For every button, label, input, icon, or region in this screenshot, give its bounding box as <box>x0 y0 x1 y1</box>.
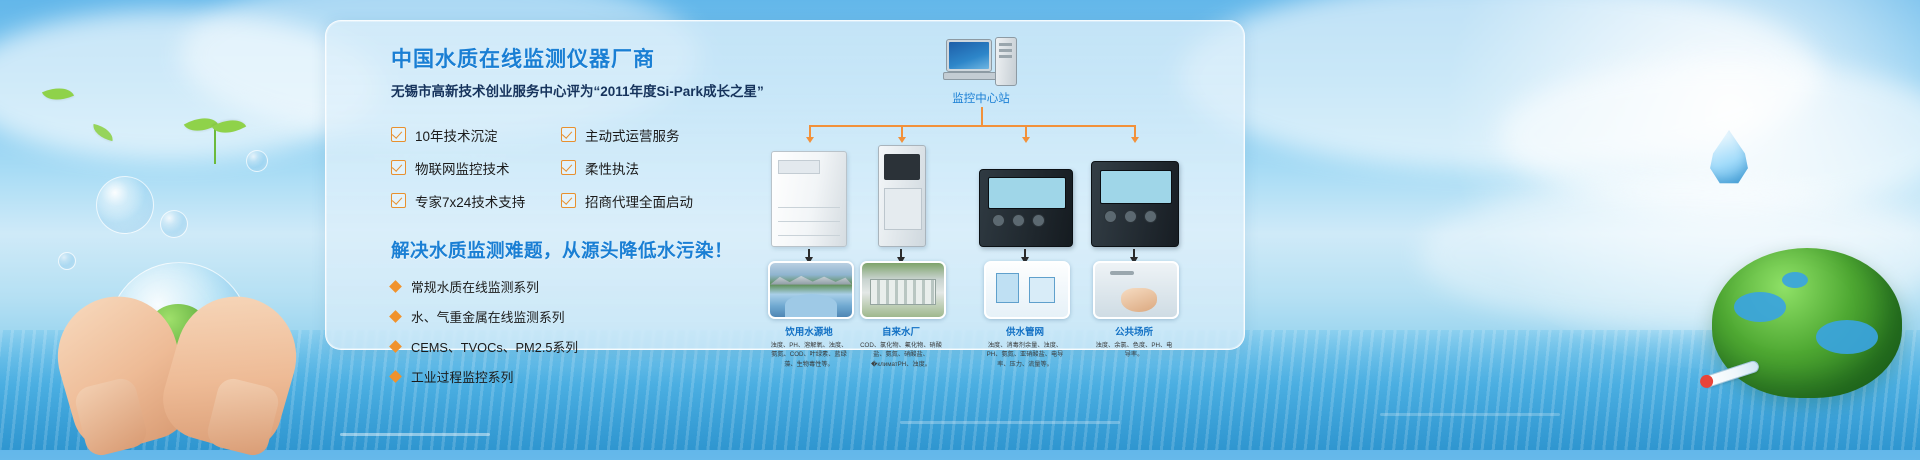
scene-params: COD、氯化物、氟化物、硝酸盐、氨氮、硝酸盐、�климатPH、浊度。 <box>860 341 942 369</box>
scene-title: 自来水厂 <box>860 324 942 338</box>
monitoring-center-computer-icon <box>946 39 1018 85</box>
page-subtitle: 无锡市高新技术创业服务中心评为“2011年度Si-Park成长之星” <box>391 83 721 101</box>
device-controller-wide <box>979 169 1073 247</box>
product-line-label: 常规水质在线监测系列 <box>411 277 539 296</box>
feature-label: 10年技术沉淀 <box>415 125 498 145</box>
diamond-bullet-icon <box>389 370 402 383</box>
device-controller-square <box>1091 161 1179 247</box>
leaf-icon <box>42 81 74 107</box>
scene-card[interactable]: 饮用水源地 浊度、PH、溶解氧、浊度、氨氮、COD、叶绿素、蓝绿藻、生物毒性等。 <box>768 261 850 369</box>
feature-label: 柔性执法 <box>585 158 639 178</box>
feature-item: 物联网监控技术 <box>391 158 561 178</box>
feature-item: 招商代理全面启动 <box>561 191 731 211</box>
device-lcd-screen <box>1100 170 1172 204</box>
scene-title: 公共场所 <box>1093 324 1175 338</box>
leaf-icon <box>91 124 115 141</box>
checkbox-icon <box>561 160 576 175</box>
section-title: 解决水质监测难题，从源头降低水污染！ <box>391 237 721 263</box>
product-line-label: CEMS、TVOCs、PM2.5系列 <box>411 337 578 356</box>
list-item: CEMS、TVOCs、PM2.5系列 <box>391 337 721 356</box>
leaf-icon <box>212 112 246 142</box>
feature-label: 专家7x24技术支持 <box>415 191 525 211</box>
device-buttons <box>1104 210 1157 223</box>
scene-params: 浊度、余氯、色度、PH、电导率。 <box>1093 341 1175 360</box>
checkbox-icon <box>391 127 406 142</box>
device-row <box>761 139 1221 247</box>
scene-thumbnail-public-place <box>1093 261 1179 319</box>
system-diagram: 监控中心站 <box>761 35 1221 341</box>
cloud-decoration <box>0 10 380 160</box>
content-panel: 中国水质在线监测仪器厂商 无锡市高新技术创业服务中心评为“2011年度Si-Pa… <box>325 20 1245 350</box>
connector-line <box>809 125 1134 127</box>
monitor-icon <box>946 39 992 72</box>
feature-item: 柔性执法 <box>561 158 731 178</box>
diamond-bullet-icon <box>389 340 402 353</box>
list-item: 常规水质在线监测系列 <box>391 277 721 296</box>
earth-lake <box>1782 272 1808 288</box>
product-line-label: 工业过程监控系列 <box>411 367 513 386</box>
product-line-label: 水、气重金属在线监测系列 <box>411 307 565 326</box>
scene-thumbnail-drinking-water-source <box>768 261 854 319</box>
feature-item: 主动式运营服务 <box>561 125 731 145</box>
bubble-decoration <box>160 210 188 238</box>
keyboard-icon <box>943 72 997 80</box>
checkbox-icon <box>561 193 576 208</box>
sprout-stem <box>214 128 216 164</box>
scene-title: 供水管网 <box>984 324 1066 338</box>
monitor-screen <box>949 42 989 69</box>
water-ripple <box>340 433 490 436</box>
feature-label: 招商代理全面启动 <box>585 191 693 211</box>
scene-params: 浊度、PH、溶解氧、浊度、氨氮、COD、叶绿素、蓝绿藻、生物毒性等。 <box>768 341 850 369</box>
checkbox-icon <box>391 193 406 208</box>
scene-card[interactable]: 自来水厂 COD、氯化物、氟化物、硝酸盐、氨氮、硝酸盐、�климатPH、浊度… <box>860 261 942 369</box>
feature-item: 专家7x24技术支持 <box>391 191 561 211</box>
device-cabinet-analyzer <box>771 151 847 247</box>
diamond-bullet-icon <box>389 310 402 323</box>
feature-checklist: 10年技术沉淀 主动式运营服务 物联网监控技术 柔性执法 专家7x24技术支持 … <box>391 125 721 211</box>
product-line-list: 常规水质在线监测系列 水、气重金属在线监测系列 CEMS、TVOCs、PM2.5… <box>391 277 721 386</box>
checkbox-icon <box>561 127 576 142</box>
left-text-column: 中国水质在线监测仪器厂商 无锡市高新技术创业服务中心评为“2011年度Si-Pa… <box>391 47 721 386</box>
feature-label: 主动式运营服务 <box>585 125 680 145</box>
center-node-label: 监控中心站 <box>911 90 1051 106</box>
device-rack-analyzer <box>878 145 926 247</box>
bubble-decoration <box>96 176 154 234</box>
scene-title: 饮用水源地 <box>768 324 850 338</box>
hands-holding-globe <box>62 266 292 446</box>
earth-lake <box>1816 320 1878 354</box>
device-buttons <box>992 214 1045 227</box>
pc-tower-icon <box>995 37 1017 86</box>
scene-thumbnail-pipe-network <box>984 261 1070 319</box>
scene-card[interactable]: 公共场所 浊度、余氯、色度、PH、电导率。 <box>1093 261 1175 360</box>
connector-line <box>981 107 983 125</box>
water-ripple <box>900 421 1120 424</box>
feature-item: 10年技术沉淀 <box>391 125 561 145</box>
bubble-decoration <box>246 150 268 172</box>
diamond-bullet-icon <box>389 280 402 293</box>
checkbox-icon <box>391 160 406 175</box>
list-item: 水、气重金属在线监测系列 <box>391 307 721 326</box>
list-item: 工业过程监控系列 <box>391 367 721 386</box>
device-lcd-screen <box>988 177 1066 209</box>
scene-card[interactable]: 供水管网 浊度、消毒剂余量、浊度、PH、氨氮、亚硝酸盐、电导率、压力、流量等。 <box>984 261 1066 369</box>
earth-lake <box>1734 292 1786 322</box>
water-ripple <box>1380 413 1560 416</box>
page-title: 中国水质在线监测仪器厂商 <box>391 47 721 72</box>
scene-params: 浊度、消毒剂余量、浊度、PH、氨氮、亚硝酸盐、电导率、压力、流量等。 <box>984 341 1066 369</box>
feature-label: 物联网监控技术 <box>415 158 510 178</box>
scene-thumbnail-water-plant <box>860 261 946 319</box>
